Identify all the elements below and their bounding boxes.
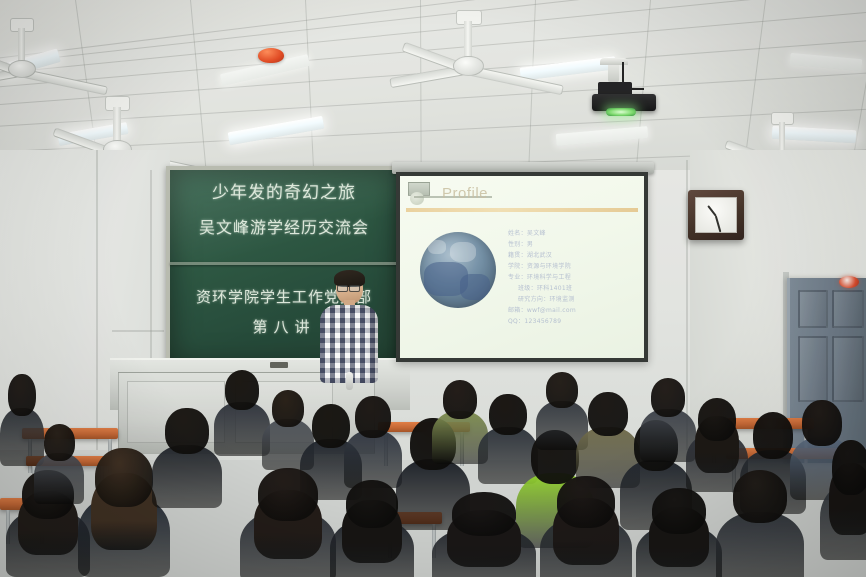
wall-clock [688,190,744,240]
classroom-photo: 少年发的奇幻之旅 吴文峰游学经历交流会 资环学院学生工作党支部 第八讲 Prof… [0,0,866,577]
slide-portrait-photo [420,232,496,308]
fan-motor [453,56,484,76]
audience-head [557,476,614,528]
slide-logo-dot-icon [410,192,424,205]
blackboard-line-1: 少年发的奇幻之旅 [170,178,398,203]
presenter-glasses-icon [337,285,348,292]
audience-member [432,492,536,577]
audience-head [443,380,478,419]
slide-text-line: 姓名：吴文峰 [508,228,546,237]
ledge-clip [270,362,288,368]
fan-rod [18,28,25,62]
audience-head [95,448,152,507]
audience-member [344,396,402,488]
presentation-slide: Profile 姓名：吴文峰性别：男籍贯：湖北武汉学院：资源与环境学院专业：环境… [400,176,644,358]
slide-text-line: 邮箱：wwf@mail.com [508,305,576,314]
audience-member [820,440,866,560]
audience-member [716,470,804,577]
slide-accent-rule [406,208,638,212]
audience-head [452,492,516,536]
screen-frame: Profile 姓名：吴文峰性别：男籍贯：湖北武汉学院：资源与环境学院专业：环境… [396,172,648,362]
slide-text-line: 研究方向：环境监测 [518,294,575,303]
slide-text-line: 性别：男 [508,239,533,248]
slide-text-line: 专业：环境科学与工程 [508,272,571,281]
projector-lens-icon [606,108,636,116]
audience-head [165,408,208,454]
clock-minute-hand [715,216,721,233]
clock-face [695,197,737,233]
audience-head [698,398,736,441]
smoke-detector-icon [258,48,284,63]
wall-seam [96,150,98,450]
slide-text-line: QQ：123456789 [508,316,561,325]
audience-head [733,470,788,523]
audience-member [152,408,222,508]
fan-motor [8,60,36,78]
microphone-icon [346,372,353,390]
board-divider [170,262,398,265]
audience-head [753,412,794,459]
audience-member [636,488,722,577]
audience-head [652,488,705,534]
audience-member [540,476,632,577]
slide-text-line: 籍贯：湖北武汉 [508,250,552,259]
slide-text-line: 学院：资源与环境学院 [508,261,571,270]
audience-head [44,424,75,461]
presenter-glasses-icon [349,285,360,292]
ceiling-tile-line [305,0,315,182]
audience-head [355,396,391,438]
fan-rod [113,107,120,143]
projection-screen: Profile 姓名：吴文峰性别：男籍贯：湖北武汉学院：资源与环境学院专业：环境… [396,172,648,362]
ceiling-fan [0,18,144,98]
audience-head [346,480,398,528]
audience-head [8,374,35,416]
ceiling-projector [586,58,656,120]
audience-head [225,370,260,410]
audience-member [240,468,336,577]
audience-member [330,480,414,577]
wall-trim [112,330,164,332]
slide-title: Profile [442,185,488,202]
ceiling-fan [438,10,603,98]
exit-indicator-icon [839,276,859,288]
audience-torso [152,445,222,508]
audience-head [832,440,866,495]
audience-head [546,372,578,408]
audience-torso [34,453,84,504]
fan-rod [464,21,472,58]
audience-head [258,468,318,521]
ceiling-tile-line [420,0,422,182]
presenter [316,272,382,390]
fan-rod [779,122,786,154]
slide-text-line: 班级：环科1401班 [518,283,572,292]
audience-head [651,378,686,417]
blackboard-line-2: 吴文峰游学经历交流会 [170,214,398,238]
audience-member [34,424,84,504]
